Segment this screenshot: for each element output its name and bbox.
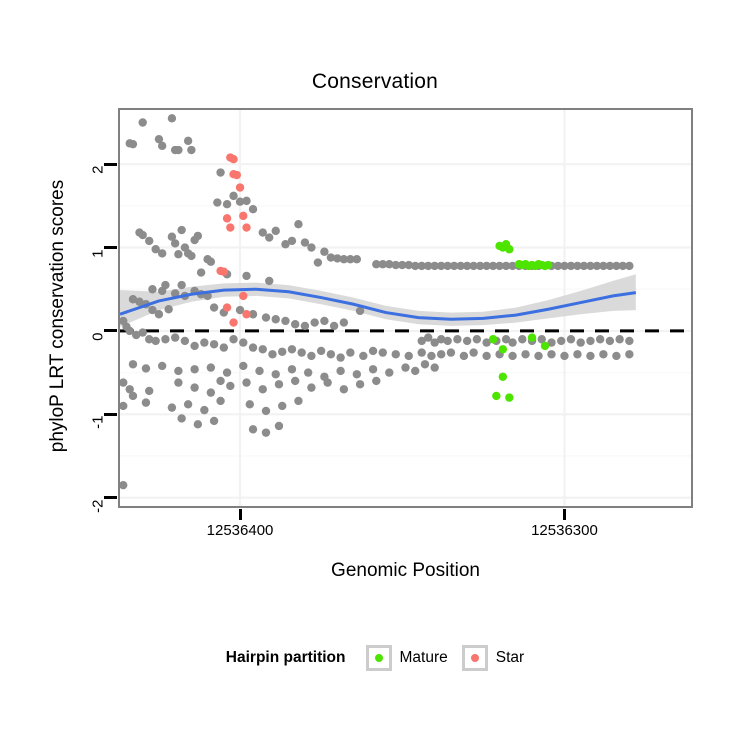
- conservation-scatter-figure: Conservation phyloP LRT conservation sco…: [0, 0, 750, 750]
- legend-items: MatureStar: [366, 645, 525, 671]
- legend-item-mature[interactable]: Mature: [366, 645, 448, 671]
- y-tick-label: -1: [90, 416, 107, 456]
- series-star-points: [216, 153, 250, 326]
- legend-title: Hairpin partition: [226, 649, 346, 667]
- x-tick-mark: [239, 509, 242, 520]
- x-tick-label: 12536400: [170, 522, 310, 539]
- legend-dot-icon: [375, 654, 383, 662]
- page-title: Conservation: [0, 70, 750, 94]
- legend-key-swatch: [366, 645, 392, 671]
- y-tick-label: 0: [90, 332, 107, 372]
- legend: Hairpin partition MatureStar: [0, 645, 750, 671]
- legend-dot-icon: [471, 654, 479, 662]
- legend-key-swatch: [462, 645, 488, 671]
- x-tick-mark: [563, 509, 566, 520]
- y-tick-label: 1: [90, 249, 107, 289]
- legend-label: Star: [496, 649, 524, 667]
- y-axis-title: phyloP LRT conservation scores: [47, 116, 69, 516]
- y-tick-label: -2: [90, 499, 107, 539]
- legend-label: Mature: [400, 649, 448, 667]
- plot-canvas: [120, 110, 691, 506]
- x-tick-label: 12536300: [494, 522, 634, 539]
- y-tick-label: 2: [90, 166, 107, 206]
- plot-panel: [118, 108, 693, 508]
- legend-item-star[interactable]: Star: [462, 645, 524, 671]
- x-axis-title: Genomic Position: [118, 560, 693, 582]
